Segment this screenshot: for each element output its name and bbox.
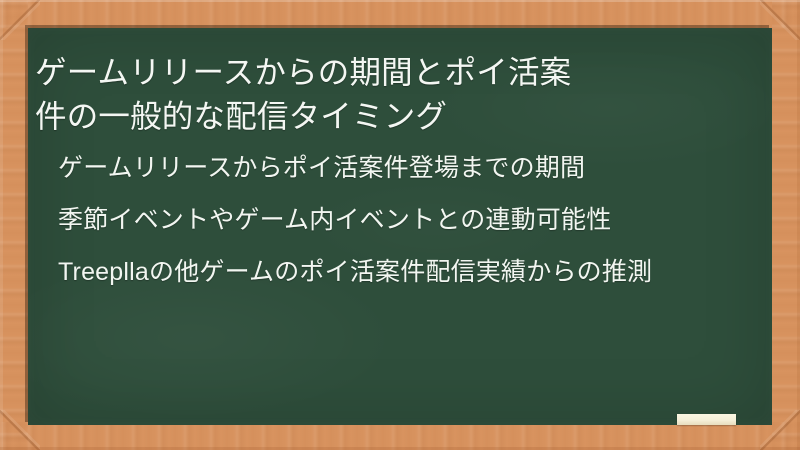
bullet-list: ゲームリリースからポイ活案件登場までの期間 季節イベントやゲーム内イベントとの連… xyxy=(58,150,758,290)
frame-left-grain xyxy=(0,0,28,450)
chalkboard-slide: ゲームリリースからの期間とポイ活案 件の一般的な配信タイミング ゲームリリースか… xyxy=(0,0,800,450)
list-item: 季節イベントやゲーム内イベントとの連動可能性 xyxy=(58,202,758,238)
chalk-stick xyxy=(677,414,736,425)
list-item: ゲームリリースからポイ活案件登場までの期間 xyxy=(58,150,758,186)
frame-top-grain xyxy=(0,0,800,28)
chalkboard-surface: ゲームリリースからの期間とポイ活案 件の一般的な配信タイミング ゲームリリースか… xyxy=(28,28,772,425)
slide-title: ゲームリリースからの期間とポイ活案 件の一般的な配信タイミング xyxy=(35,50,757,138)
list-item: Treepllaの他ゲームのポイ活案件配信実績からの推測 xyxy=(58,254,758,290)
frame-bottom-grain xyxy=(0,422,800,450)
frame-right-grain xyxy=(772,0,800,450)
